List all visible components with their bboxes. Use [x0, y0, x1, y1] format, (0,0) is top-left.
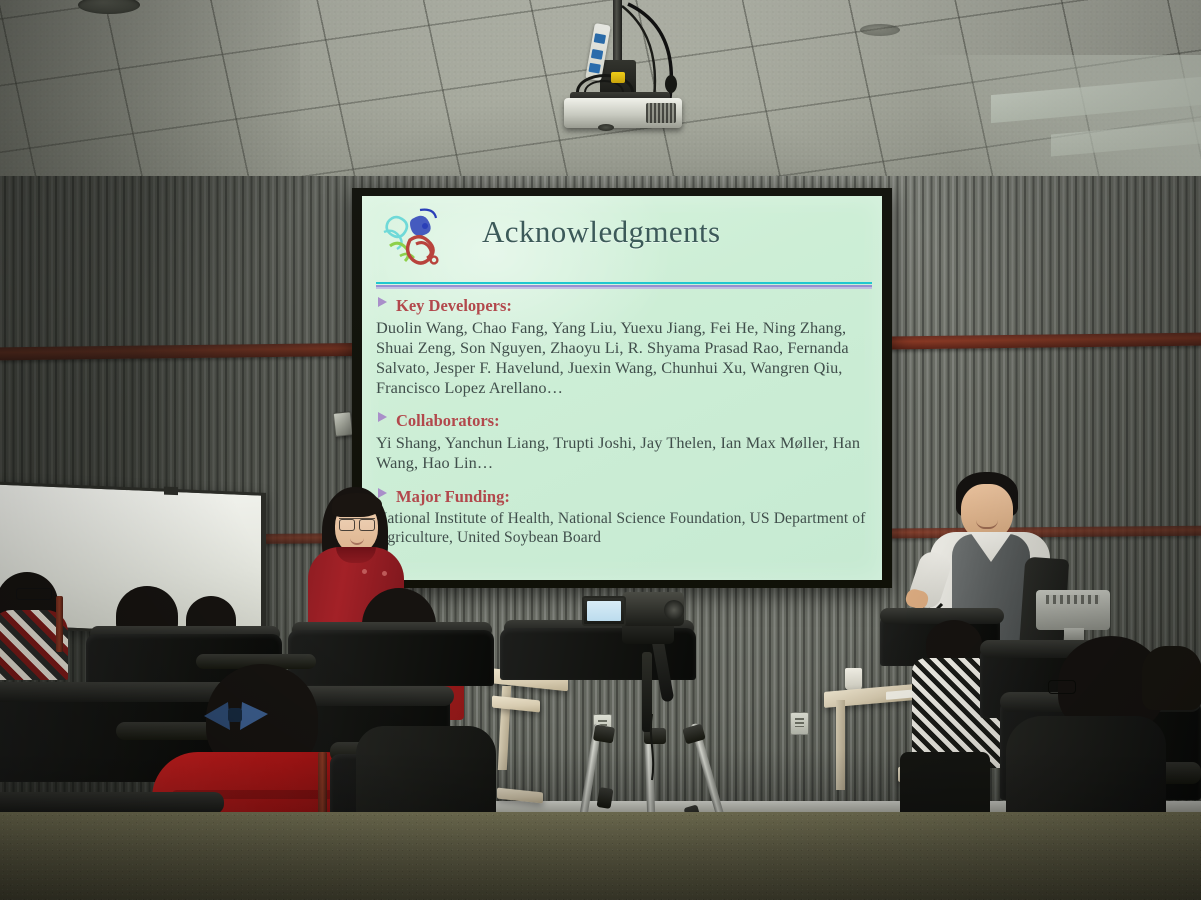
ceiling-vent-icon [860, 24, 900, 36]
carpet-texture [0, 812, 1201, 900]
section-text: National Institute of Health, National S… [376, 509, 870, 547]
chair-headrest[interactable] [0, 792, 224, 814]
tripod-hanging-cable [638, 714, 678, 794]
chair-back[interactable] [288, 630, 494, 686]
section-heading: Major Funding: [376, 485, 870, 509]
projector-lens-icon [598, 124, 614, 131]
presenter-fringe [332, 493, 382, 517]
section-heading: Collaborators: [376, 409, 870, 433]
blue-hair-bow-icon [200, 698, 272, 734]
ceiling-shadow-left [0, 0, 300, 190]
ceiling-mounted-projector [558, 0, 688, 140]
slide-title: Acknowledgments [482, 214, 856, 250]
wall-mounted-bracket [333, 411, 353, 437]
section-text: Duolin Wang, Chao Fang, Yang Liu, Yuexu … [376, 318, 870, 398]
section-heading-label: Major Funding: [396, 487, 510, 506]
tripod-collar-2 [593, 725, 615, 744]
arrow-bullet-icon [378, 297, 387, 307]
whiteboard-clip-icon [164, 487, 178, 496]
section-heading: Key Developers: [376, 294, 870, 318]
monitor-vent-icon [1046, 595, 1100, 604]
camera-lens-icon [664, 600, 684, 620]
head [1142, 646, 1201, 710]
protein-structure-ribbon-diagram-icon [380, 206, 466, 272]
section-heading-label: Collaborators: [396, 411, 500, 430]
ceiling-highlight-right [841, 55, 1201, 190]
eyeglasses-icon [16, 588, 52, 600]
crt-monitor[interactable] [1036, 590, 1110, 642]
chair-wood-frame [56, 596, 63, 652]
projection-screen: Acknowledgments Key Developers: Duolin W… [352, 188, 892, 588]
tripod-leg-lock[interactable] [597, 787, 614, 809]
paper-cup [845, 668, 862, 690]
section-text: Yi Shang, Yanchun Liang, Trupti Joshi, J… [376, 433, 870, 473]
section-heading-label: Key Developers: [396, 296, 512, 315]
slide-divider-rules [376, 282, 872, 289]
desk-leg [836, 700, 845, 790]
slide-section-major-funding: Major Funding: National Institute of Hea… [376, 485, 870, 547]
carpet-floor [0, 812, 1201, 900]
lecture-hall-photo: Acknowledgments Key Developers: Duolin W… [0, 0, 1201, 900]
arrow-bullet-icon [378, 412, 387, 422]
slide-body: Key Developers: Duolin Wang, Chao Fang, … [376, 294, 870, 574]
projector-vent-icon [646, 103, 676, 123]
eyeglasses-icon [339, 518, 375, 529]
slide-section-collaborators: Collaborators: Yi Shang, Yanchun Liang, … [376, 409, 870, 473]
divider-rule-lavender [376, 287, 872, 289]
camera-lcd-screen[interactable] [582, 596, 626, 626]
slide-section-key-developers: Key Developers: Duolin Wang, Chao Fang, … [376, 294, 870, 397]
slide-acknowledgments: Acknowledgments Key Developers: Duolin W… [362, 196, 882, 580]
eyeglasses-icon [1048, 680, 1076, 694]
yellow-cable-tag [611, 72, 625, 83]
